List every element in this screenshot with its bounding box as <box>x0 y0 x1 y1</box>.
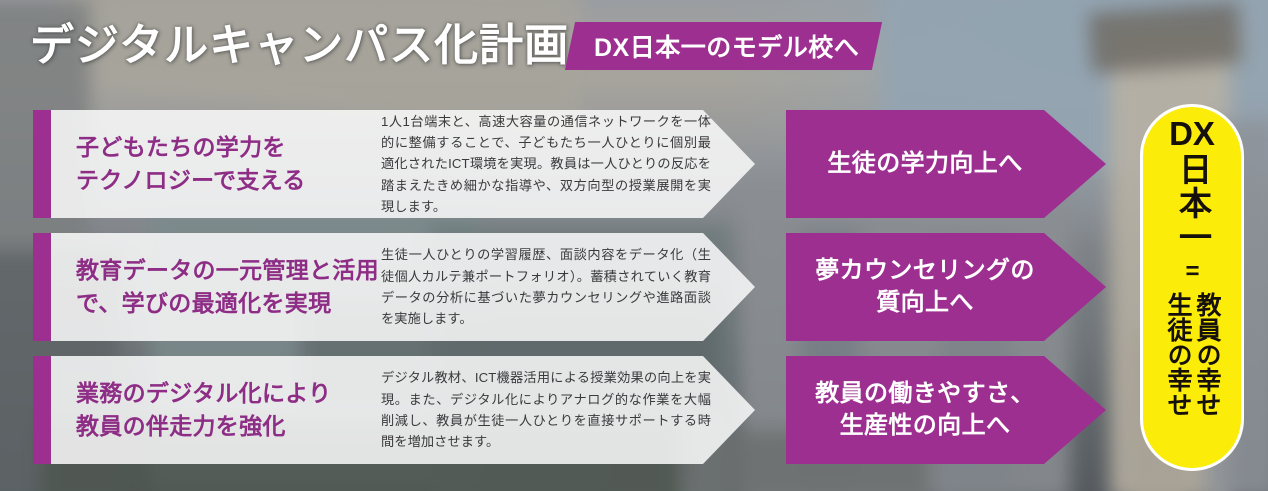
capsule-dx-label: DX <box>1169 117 1215 151</box>
initiative-body: デジタル教材、ICT機器活用による授業効果の向上を実現。また、デジタル化によりア… <box>381 367 711 453</box>
capsule-columns: 生徒の幸せ 教員の幸せ <box>1164 292 1220 417</box>
row-accent-bar <box>33 233 51 341</box>
initiative-heading: 業務のデジタル化により 教員の伴走力を強化 <box>51 377 381 442</box>
poster-root: デジタルキャンパス化計画 DX日本一のモデル校へ 子どもたちの学力を テクノロジ… <box>0 0 1268 491</box>
initiative-row: 教育データの一元管理と活用 で、学びの最適化を実現 生徒一人ひとりの学習履歴、面… <box>0 233 1268 341</box>
title-badge-label: DX日本一のモデル校へ <box>594 28 859 64</box>
initiative-heading: 教育データの一元管理と活用 で、学びの最適化を実現 <box>51 254 381 319</box>
capsule-column-left: 教員の幸せ <box>1193 292 1220 417</box>
outcome-label: 教員の働きやすさ、 生産性の向上へ <box>815 378 1077 442</box>
outcome-chevron: 夢カウンセリングの 質向上へ <box>786 233 1106 341</box>
capsule-vertical-label: 日本一 <box>1175 152 1210 254</box>
initiative-body: 生徒一人ひとりの学習履歴、面談内容をデータ化（生徒個人カルテ兼ポートフォリオ）。… <box>381 244 711 330</box>
header: デジタルキャンパス化計画 DX日本一のモデル校へ <box>0 0 1268 96</box>
initiative-row: 業務のデジタル化により 教員の伴走力を強化 デジタル教材、ICT機器活用による授… <box>0 356 1268 464</box>
initiative-panel: 教育データの一元管理と活用 で、学びの最適化を実現 生徒一人ひとりの学習履歴、面… <box>51 233 755 341</box>
row-accent-bar <box>33 110 51 218</box>
initiative-heading: 子どもたちの学力を テクノロジーで支える <box>51 131 381 196</box>
capsule-equals-sign: = <box>1180 258 1204 285</box>
goal-capsule: DX 日本一 = 生徒の幸せ 教員の幸せ <box>1140 104 1244 471</box>
outcome-chevron: 生徒の学力向上へ <box>786 110 1106 218</box>
outcome-label: 夢カウンセリングの 質向上へ <box>815 255 1077 319</box>
initiative-panel: 子どもたちの学力を テクノロジーで支える 1人1台端末と、高速大容量の通信ネット… <box>51 110 755 218</box>
outcome-label: 生徒の学力向上へ <box>827 148 1064 180</box>
initiative-panel: 業務のデジタル化により 教員の伴走力を強化 デジタル教材、ICT機器活用による授… <box>51 356 755 464</box>
row-accent-bar <box>33 356 51 464</box>
initiative-body: 1人1台端末と、高速大容量の通信ネットワークを一体的に整備することで、子どもたち… <box>381 111 711 218</box>
capsule-column-right: 生徒の幸せ <box>1164 292 1191 417</box>
outcome-chevron: 教員の働きやすさ、 生産性の向上へ <box>786 356 1106 464</box>
page-title: デジタルキャンパス化計画 <box>30 18 569 73</box>
initiative-row: 子どもたちの学力を テクノロジーで支える 1人1台端末と、高速大容量の通信ネット… <box>0 110 1268 218</box>
title-badge: DX日本一のモデル校へ <box>565 22 882 70</box>
